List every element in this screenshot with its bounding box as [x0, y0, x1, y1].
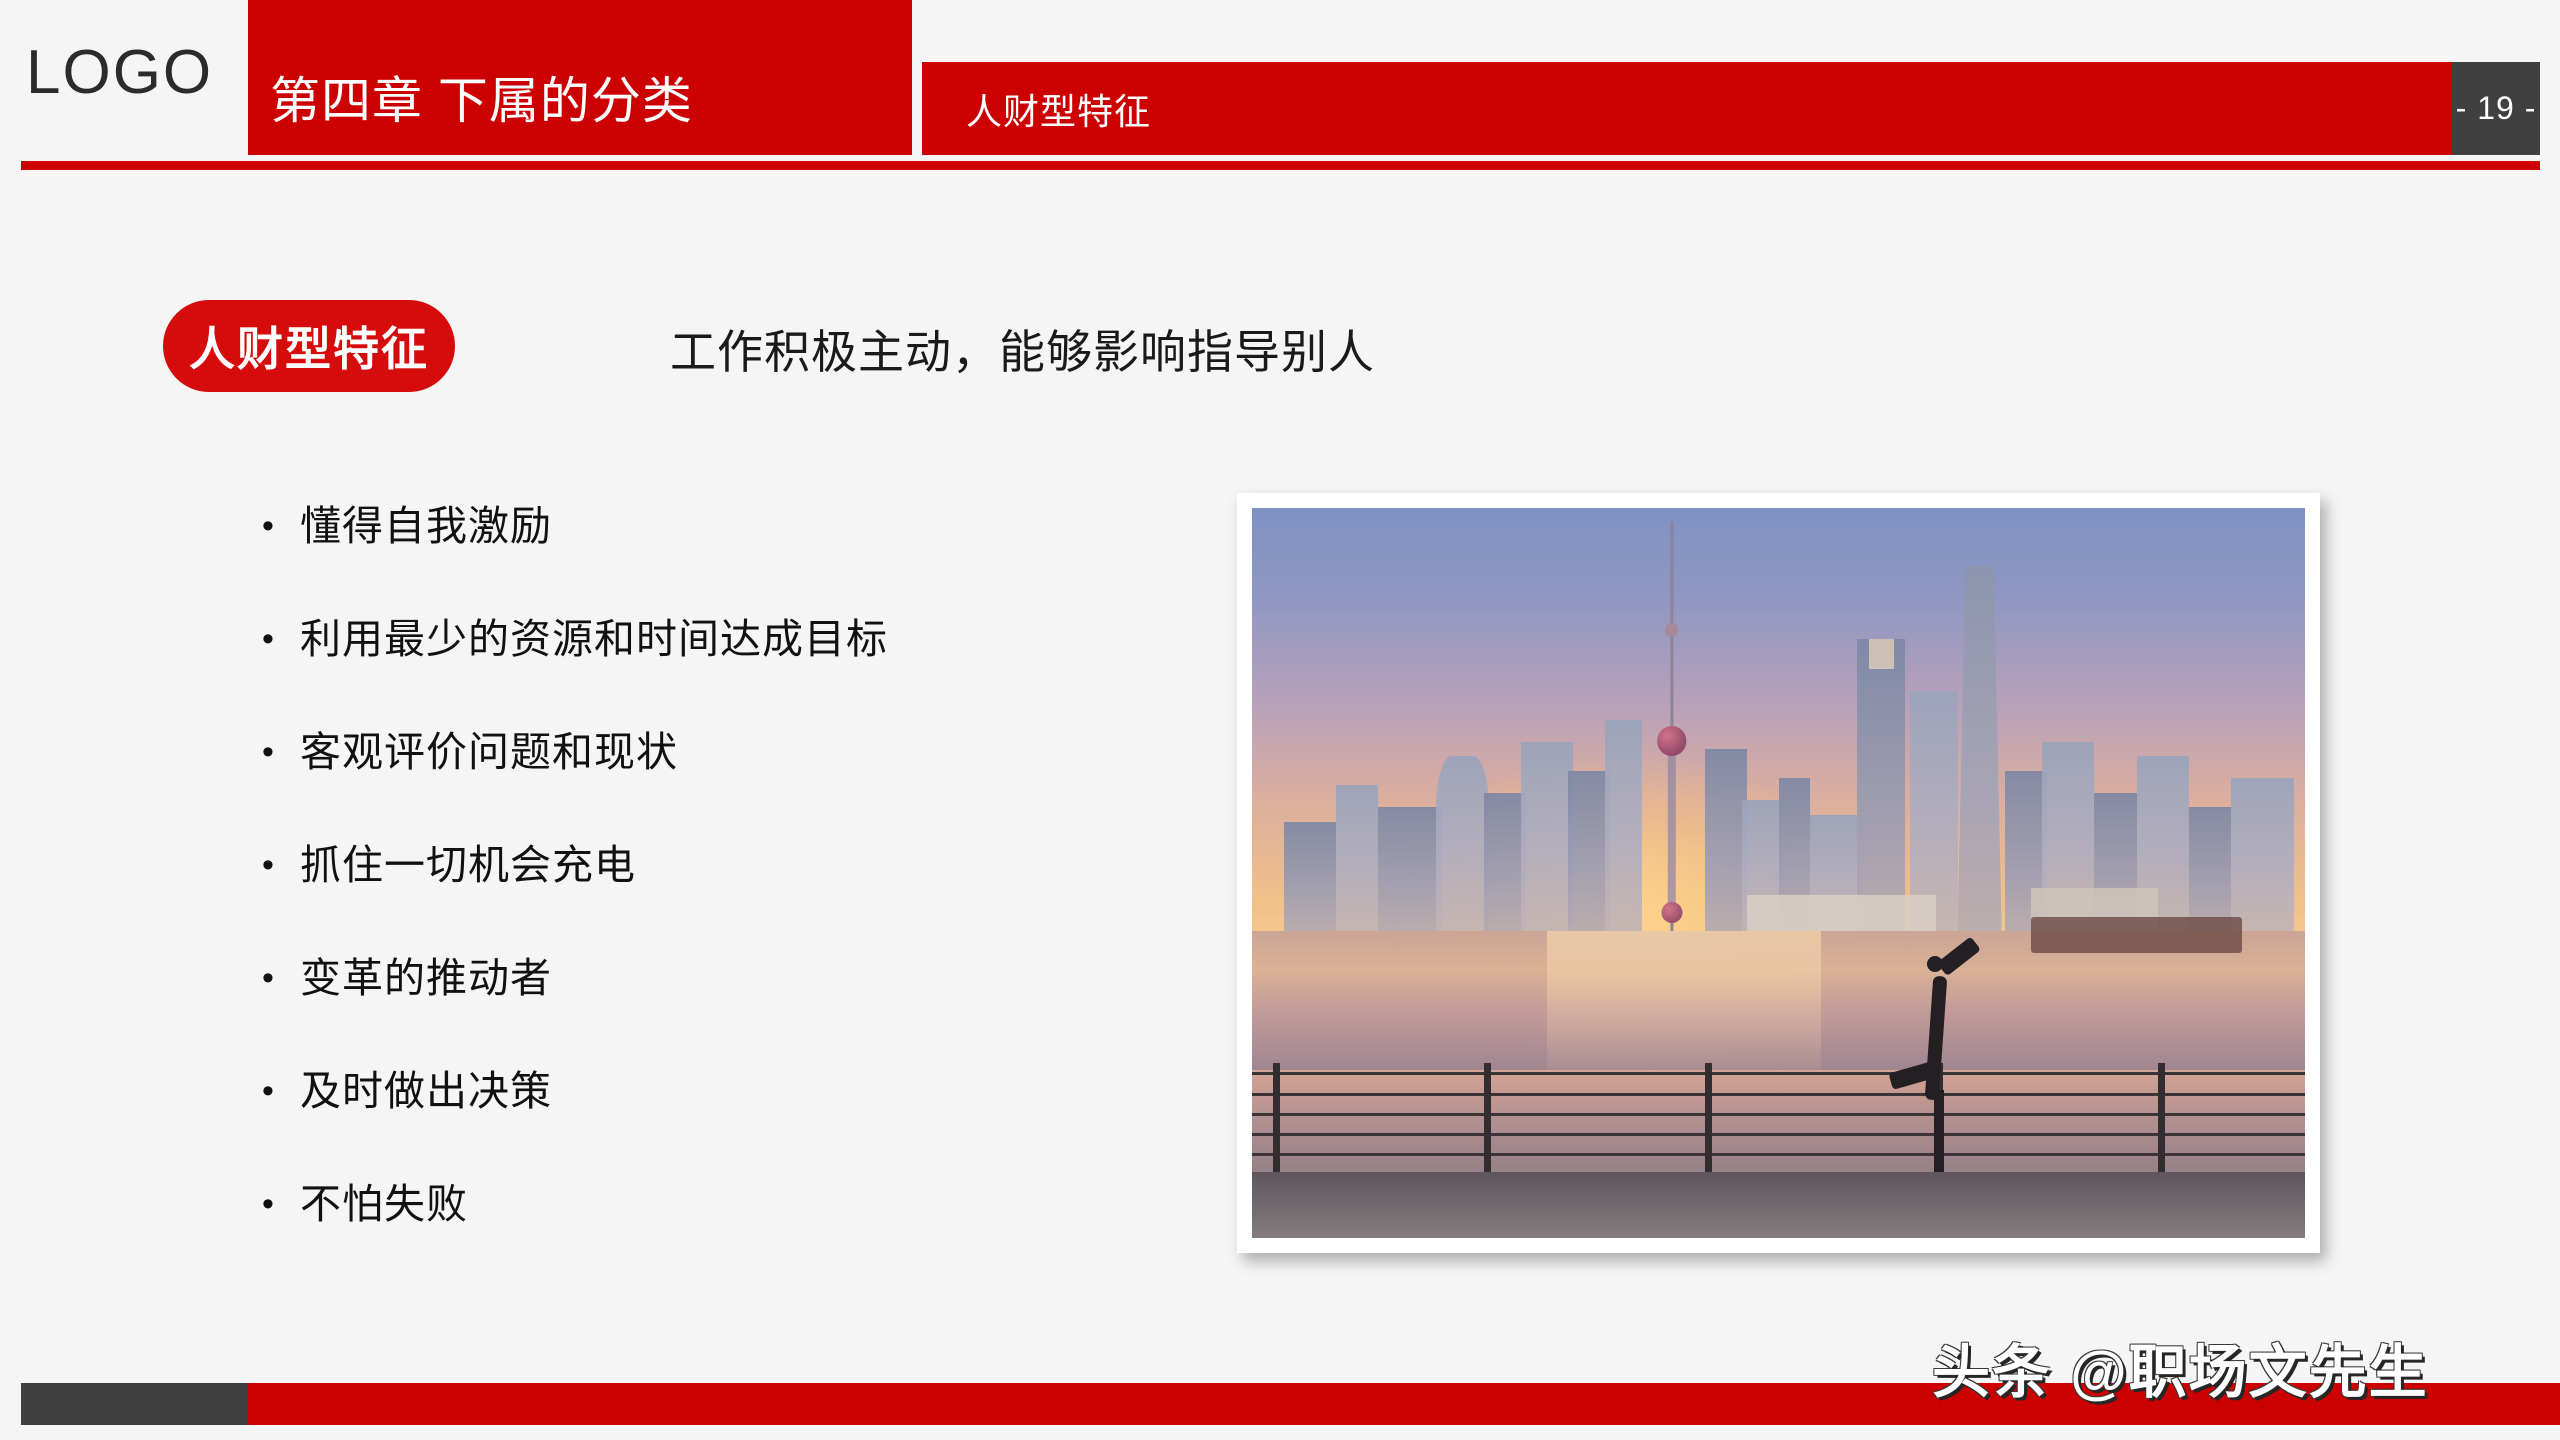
footer-bar-dark	[21, 1383, 248, 1425]
bullet-dot-icon: •	[262, 500, 300, 552]
photo-frame	[1237, 493, 2320, 1253]
building-silhouette	[1521, 742, 1574, 932]
railing-post	[1273, 1063, 1280, 1173]
bullet-dot-icon: •	[262, 1178, 300, 1230]
tower-column	[1667, 743, 1675, 915]
page-number-badge: - 19 -	[2452, 62, 2540, 155]
list-item-label: 客观评价问题和现状	[300, 726, 678, 778]
bullet-dot-icon: •	[262, 952, 300, 1004]
promenade-walkway	[1252, 1172, 2305, 1238]
list-item-label: 不怕失败	[300, 1178, 468, 1230]
building-silhouette	[1378, 807, 1441, 931]
list-item: • 利用最少的资源和时间达成目标	[262, 613, 1162, 726]
list-item: • 客观评价问题和现状	[262, 726, 1162, 839]
building-silhouette	[1336, 785, 1378, 931]
list-item-label: 抓住一切机会充电	[300, 839, 636, 891]
dancer-torso	[1925, 975, 1948, 1100]
list-item: • 不怕失败	[262, 1178, 1162, 1291]
tower-upper-sphere	[1665, 623, 1679, 637]
moored-barge	[2031, 917, 2242, 954]
list-item-label: 懂得自我激励	[300, 500, 552, 552]
list-item-label: 利用最少的资源和时间达成目标	[300, 613, 888, 665]
list-item-label: 变革的推动者	[300, 952, 552, 1004]
title-pill-badge: 人财型特征	[163, 300, 455, 392]
building-silhouette	[1436, 756, 1489, 931]
railing-post	[1705, 1063, 1712, 1173]
building-silhouette	[1568, 771, 1610, 932]
bullet-dot-icon: •	[262, 613, 300, 665]
building-silhouette	[2189, 807, 2231, 931]
header-divider-rule	[21, 161, 2540, 170]
list-item: • 变革的推动者	[262, 952, 1162, 1065]
railing-bar	[1252, 1133, 2305, 1136]
list-item: • 懂得自我激励	[262, 500, 1162, 613]
world-financial-center	[1857, 639, 1904, 931]
tower-lower-sphere	[1661, 902, 1682, 923]
list-item: • 抓住一切机会充电	[262, 839, 1162, 952]
bullet-dot-icon: •	[262, 1065, 300, 1117]
bund-waterfront-block	[1747, 895, 1937, 932]
tower-main-sphere	[1657, 726, 1686, 755]
building-silhouette	[1484, 793, 1526, 932]
title-pill-label: 人财型特征	[189, 313, 429, 379]
railing-bar	[1252, 1153, 2305, 1156]
shanghai-tower	[1958, 566, 2002, 931]
bullet-dot-icon: •	[262, 726, 300, 778]
railing-post	[2158, 1063, 2165, 1173]
building-silhouette	[1284, 822, 1337, 932]
bund-railing	[1252, 1063, 2305, 1173]
railing-bar	[1252, 1113, 2305, 1116]
tower-spire	[1671, 519, 1672, 609]
title-row: 人财型特征 工作积极主动，能够影响指导别人	[0, 300, 2560, 410]
list-item-label: 及时做出决策	[300, 1065, 552, 1117]
chapter-banner: 第四章 下属的分类	[248, 0, 912, 155]
section-label: 人财型特征	[922, 83, 1151, 135]
railing-post	[1484, 1063, 1491, 1173]
dancer-silhouette	[1879, 946, 2005, 1194]
bullet-dot-icon: •	[262, 839, 300, 891]
slide-header: LOGO 第四章 下属的分类 人财型特征 - 19 -	[0, 0, 2560, 175]
building-silhouette	[1705, 749, 1747, 932]
page-number-label: - 19 -	[2456, 90, 2537, 127]
title-subtitle: 工作积极主动，能够影响指导别人	[670, 316, 1375, 382]
building-silhouette	[1605, 720, 1642, 932]
shanghai-skyline-photo	[1252, 508, 2305, 1238]
chapter-label: 第四章 下属的分类	[248, 61, 693, 155]
building-silhouette	[2231, 778, 2294, 931]
list-item: • 及时做出决策	[262, 1065, 1162, 1178]
wfc-aperture	[1869, 639, 1894, 668]
railing-bar	[1252, 1093, 2305, 1096]
bullet-list: • 懂得自我激励 • 利用最少的资源和时间达成目标 • 客观评价问题和现状 • …	[262, 500, 1162, 1291]
water-reflection	[1547, 931, 1821, 1070]
watermark-label: 头条 @职场文先生	[1932, 1325, 2429, 1409]
oriental-pearl-tower	[1647, 523, 1700, 932]
railing-bar	[1252, 1072, 2305, 1075]
logo: LOGO	[26, 42, 213, 104]
section-banner: 人财型特征	[922, 62, 2452, 155]
